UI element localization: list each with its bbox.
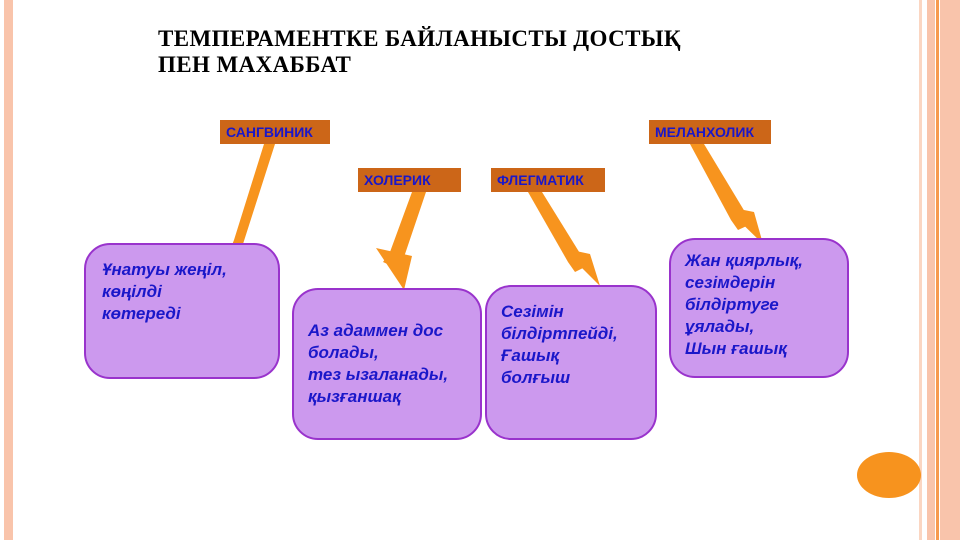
type-box-flegmatik[interactable]: ФЛЕГМАТИК [491,168,605,192]
right-border-stripe-thin [919,0,922,540]
description-balloon-melanholik[interactable]: Жан қиярлық, сезімдерін білдіртуге ұялад… [669,238,849,378]
type-box-flegmatik-label: ФЛЕГМАТИК [497,173,584,187]
type-box-melanholik-label: МЕЛАНХОЛИК [655,125,754,139]
type-box-sangvinik[interactable]: САНГВИНИК [220,120,330,144]
type-box-holerik[interactable]: ХОЛЕРИК [358,168,461,192]
left-border-stripe [4,0,13,540]
description-text-holerik: Аз адаммен дос болады, тез ызаланады, қы… [308,320,482,408]
type-box-holerik-label: ХОЛЕРИК [364,173,431,187]
type-box-sangvinik-label: САНГВИНИК [226,125,313,139]
description-balloon-flegmatik[interactable]: Сезімін білдіртпейді, Ғашық болғыш [485,285,657,440]
slide-title: ТЕМПЕРАМЕНТКЕ БАЙЛАНЫСТЫ ДОСТЫҚ ПЕН МАХА… [158,26,858,78]
arrow-flegmatik [528,192,600,286]
orange-ellipse-decoration [857,452,921,498]
right-border-stripe-peach [927,0,935,540]
description-text-melanholik: Жан қиярлық, сезімдерін білдіртуге ұялад… [685,250,849,360]
arrow-melanholik [690,144,763,244]
description-text-sangvinik: Ұнатуы жеңіл, көңілді көтереді [102,259,280,325]
description-text-flegmatik: Сезімін білдіртпейді, Ғашық болғыш [501,301,657,389]
description-balloon-sangvinik[interactable]: Ұнатуы жеңіл, көңілді көтереді [84,243,280,379]
type-box-melanholik[interactable]: МЕЛАНХОЛИК [649,120,771,144]
right-border-panel [940,0,960,540]
arrow-holerik [376,192,426,290]
slide-canvas: ТЕМПЕРАМЕНТКЕ БАЙЛАНЫСТЫ ДОСТЫҚ ПЕН МАХА… [0,0,960,540]
description-balloon-holerik[interactable]: Аз адаммен дос болады, тез ызаланады, қы… [292,288,482,440]
right-border-stripe-orange [936,0,939,540]
